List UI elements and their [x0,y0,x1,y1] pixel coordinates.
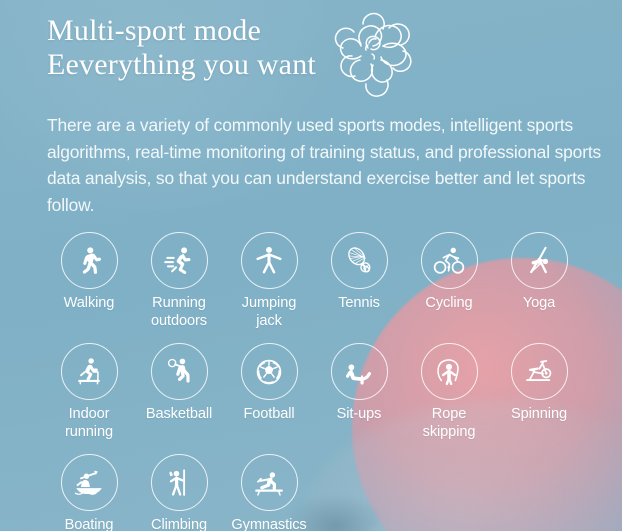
sport-label: Cycling [425,295,472,313]
rope-skipping-icon [421,343,478,400]
sport-label: Tennis [338,295,380,313]
sport-label: Climbing [151,517,207,531]
sport-item-rope-skipping[interactable]: Rope skipping [404,343,494,441]
sport-label: Rope skipping [423,406,476,441]
sport-item-yoga[interactable]: Yoga [494,232,584,330]
yoga-icon [511,232,568,289]
sport-item-climbing[interactable]: Climbing [134,454,224,531]
page-title: Multi-sport mode Eeverything you want [47,14,587,82]
indoor-running-icon [61,343,118,400]
sport-item-sit-ups[interactable]: Sit-ups [314,343,404,441]
sport-item-cycling[interactable]: Cycling [404,232,494,330]
sport-label: Boating [65,517,114,531]
boating-icon [61,454,118,511]
sport-label: Basketball [146,406,212,424]
sport-label: Spinning [511,406,567,424]
spinning-icon [511,343,568,400]
sport-item-walking[interactable]: Walking [44,232,134,330]
sport-item-football[interactable]: Football [224,343,314,441]
sport-item-jumping-jack[interactable]: Jumping jack [224,232,314,330]
sport-item-tennis[interactable]: Tennis [314,232,404,330]
sport-label: Jumping jack [242,295,296,330]
sport-label: Gymnastics [231,517,306,531]
sport-label: Football [243,406,294,424]
sport-label: Walking [64,295,115,313]
climbing-icon [151,454,208,511]
walking-icon [61,232,118,289]
sport-item-running-outdoors[interactable]: Running outdoors [134,232,224,330]
football-icon [241,343,298,400]
sports-grid: Walking Running outdoors [44,232,584,531]
sport-item-gymnastics[interactable]: Gymnastics [224,454,314,531]
sport-label: Yoga [523,295,555,313]
description-text: There are a variety of commonly used spo… [47,112,603,218]
promo-panel: Multi-sport mode Eeverything you want Th… [0,0,622,531]
sport-label: Running outdoors [151,295,207,330]
cycling-icon [421,232,478,289]
sport-item-indoor-running[interactable]: Indoor running [44,343,134,441]
jumping-jack-icon [241,232,298,289]
sport-item-spinning[interactable]: Spinning [494,343,584,441]
tennis-icon [331,232,388,289]
sit-ups-icon [331,343,388,400]
running-outdoors-icon [151,232,208,289]
sport-label: Indoor running [65,406,113,441]
sport-label: Sit-ups [337,406,382,424]
basketball-icon [151,343,208,400]
header: Multi-sport mode Eeverything you want [47,14,587,82]
sport-item-boating[interactable]: Boating [44,454,134,531]
sport-item-basketball[interactable]: Basketball [134,343,224,441]
gymnastics-icon [241,454,298,511]
